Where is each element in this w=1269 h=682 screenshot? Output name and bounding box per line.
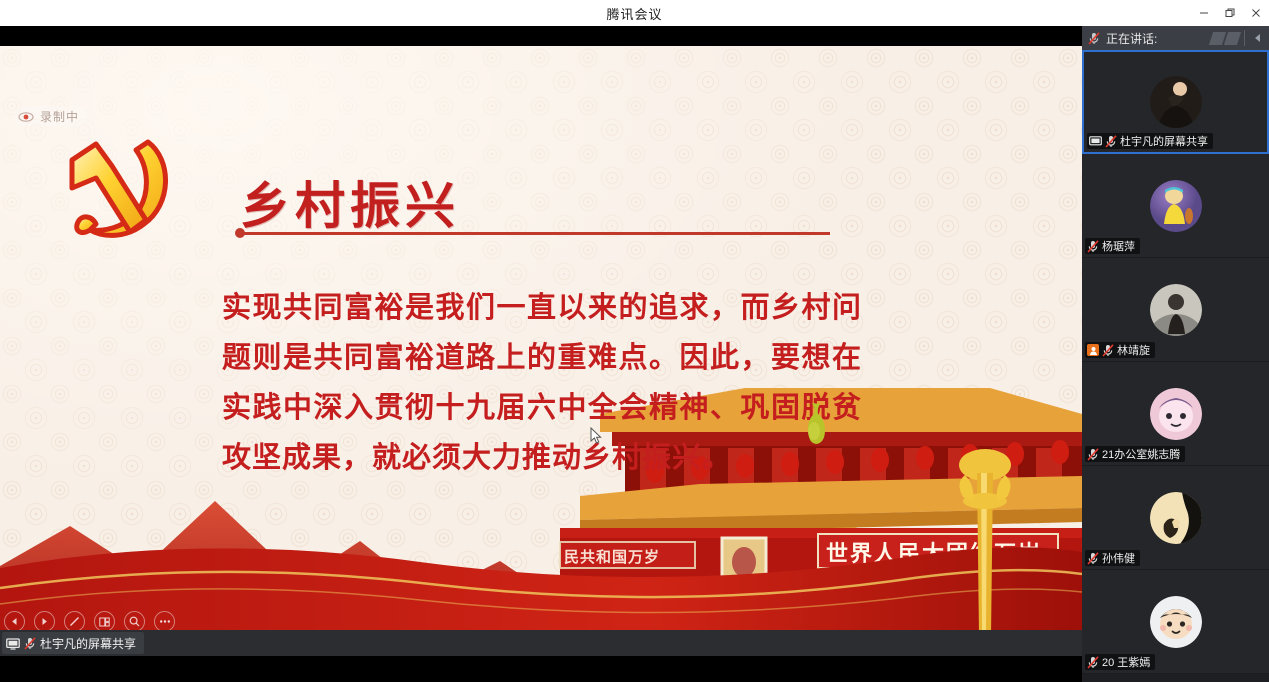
participant-tile[interactable]: 杜宇凡的屏幕共享 [1082, 50, 1269, 154]
participant-name-bar: 杨琚萍 [1085, 238, 1140, 254]
collapse-sidebar-icon[interactable] [1251, 31, 1265, 50]
zoom-magnify-button[interactable] [124, 611, 145, 632]
participant-name: 21办公室姚志腾 [1102, 446, 1180, 462]
screen-share-icon [1089, 136, 1102, 147]
recording-label: 录制中 [40, 108, 79, 125]
minimize-button[interactable] [1191, 0, 1217, 26]
participant-tile[interactable]: 杨琚萍 [1082, 154, 1269, 258]
participant-name: 杨琚萍 [1102, 238, 1135, 254]
participants-sidebar: 正在讲话: [1082, 26, 1269, 682]
title-rule [238, 232, 830, 235]
sidebar-divider [1244, 30, 1245, 46]
sidebar-drag-handle[interactable] [1211, 32, 1239, 45]
recording-dot-icon [18, 108, 34, 124]
avatar [1150, 76, 1202, 128]
microphone-muted-icon [1105, 135, 1117, 148]
next-slide-button[interactable] [34, 611, 55, 632]
participant-name: 林靖旋 [1117, 342, 1150, 358]
monitor-icon [6, 637, 20, 649]
tencent-meeting-window: 腾讯会议 [0, 0, 1269, 682]
window-title: 腾讯会议 [606, 4, 662, 23]
speaking-now-bar: 正在讲话: [1082, 26, 1269, 50]
microphone-muted-icon [1102, 344, 1114, 357]
slide-title: 乡村振兴 [240, 166, 460, 238]
participant-name-bar: 林靖旋 [1085, 342, 1155, 358]
avatar [1150, 284, 1202, 336]
participant-name-bar: 21办公室姚志腾 [1085, 446, 1185, 462]
participant-name: 孙伟健 [1102, 550, 1135, 566]
speaking-now-label: 正在讲话: [1106, 30, 1157, 47]
window-title-bar: 腾讯会议 [0, 0, 1269, 26]
microphone-muted-icon [1087, 552, 1099, 565]
participant-name-bar: 杜宇凡的屏幕共享 [1087, 133, 1213, 149]
host-badge-icon [1087, 344, 1099, 356]
participant-tile[interactable]: 林靖旋 [1082, 258, 1269, 362]
shared-desktop-taskbar: 杜宇凡的屏幕共享 [0, 630, 1082, 656]
presentation-toolbar[interactable] [4, 611, 175, 632]
participant-name-bar: 20 王紫嫣 [1085, 654, 1155, 670]
participant-tile[interactable]: 21办公室姚志腾 [1082, 362, 1269, 466]
microphone-muted-icon [24, 637, 36, 650]
microphone-muted-icon [1087, 448, 1099, 461]
avatar [1150, 596, 1202, 648]
avatar [1150, 492, 1202, 544]
participant-name: 20 王紫嫣 [1102, 654, 1150, 670]
participant-name: 杜宇凡的屏幕共享 [1120, 133, 1208, 149]
more-options-button[interactable] [154, 611, 175, 632]
svg-text:民共和国万岁: 民共和国万岁 [564, 548, 660, 566]
cpc-hammer-sickle-emblem [52, 126, 187, 261]
shared-screen-area[interactable]: 世界人民大团结万岁 民共和国万岁 [0, 26, 1082, 656]
avatar [1150, 180, 1202, 232]
participant-name-bar: 孙伟健 [1085, 550, 1140, 566]
slide-body-text: 实现共同富裕是我们一直以来的追求，而乡村问题则是共同富裕道路上的重难点。因此，要… [222, 282, 862, 482]
participant-tile[interactable]: 20 王紫嫣 [1082, 570, 1269, 674]
slide-overview-button[interactable] [94, 611, 115, 632]
taskbar-item-screen-share[interactable]: 杜宇凡的屏幕共享 [2, 632, 144, 654]
avatar [1150, 388, 1202, 440]
close-button[interactable] [1243, 0, 1269, 26]
restore-button[interactable] [1217, 0, 1243, 26]
mouse-cursor [590, 427, 602, 445]
window-controls [1191, 0, 1269, 26]
pen-annotate-button[interactable] [64, 611, 85, 632]
gourd-decoration [800, 401, 830, 447]
presentation-slide[interactable]: 世界人民大团结万岁 民共和国万岁 [0, 46, 1082, 636]
microphone-muted-icon [1087, 240, 1099, 253]
previous-slide-button[interactable] [4, 611, 25, 632]
taskbar-item-label: 杜宇凡的屏幕共享 [40, 635, 136, 652]
recording-indicator: 录制中 [14, 106, 87, 126]
participant-tile[interactable]: 孙伟健 [1082, 466, 1269, 570]
microphone-muted-icon [1087, 656, 1099, 669]
microphone-muted-icon [1088, 32, 1100, 45]
huabiao-pillar-decoration [955, 441, 1015, 636]
